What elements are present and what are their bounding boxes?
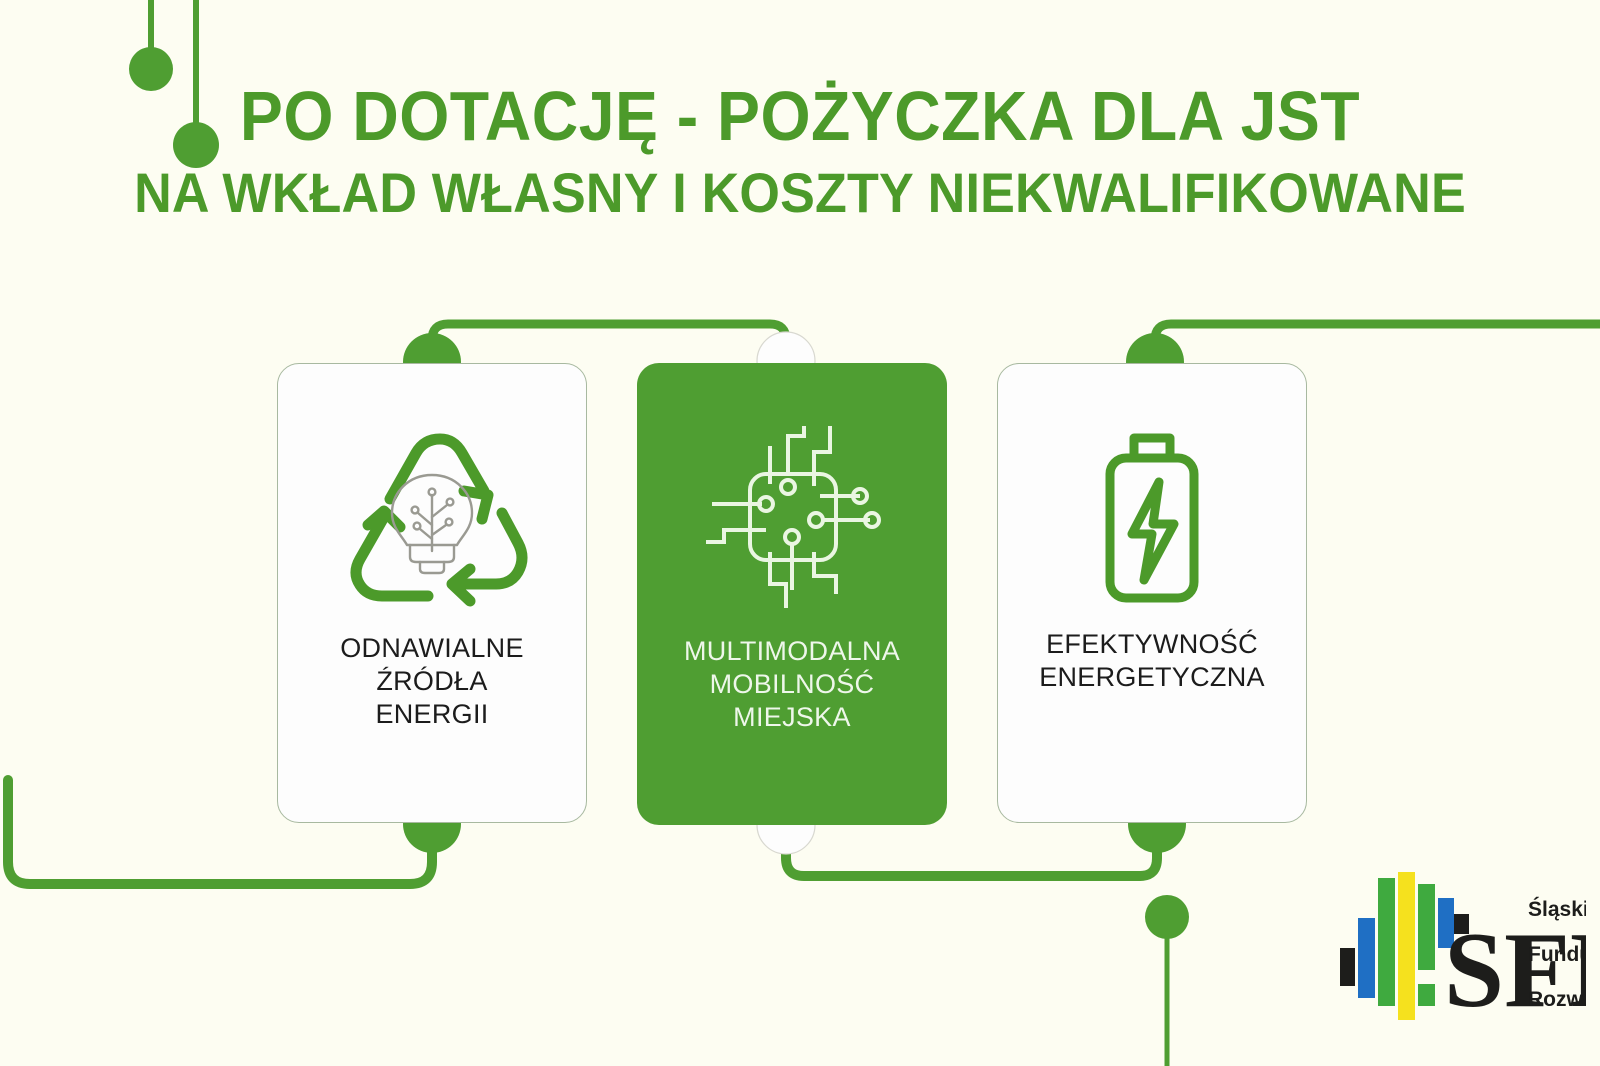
battery-bolt-icon xyxy=(1052,412,1252,612)
logo-bar-3 xyxy=(1378,878,1395,1006)
card-urban-mobility[interactable]: MULTIMODALNA MOBILNOŚĆ MIEJSKA xyxy=(637,363,947,825)
card-label-urban-mobility: MULTIMODALNA MOBILNOŚĆ MIEJSKA xyxy=(684,635,900,734)
card-label-energy-efficiency: EFEKTYWNOŚĆ ENERGETYCZNA xyxy=(1039,628,1265,694)
infographic-canvas: PO DOTACJĘ - POŻYCZKA DLA JST NA WKŁAD W… xyxy=(0,0,1600,1066)
logo-bar-6 xyxy=(1418,984,1435,1006)
card-energy-efficiency[interactable]: EFEKTYWNOŚĆ ENERGETYCZNA xyxy=(997,363,1307,823)
sfr-logo[interactable]: SFR Śląski Fundusz Rozwoju xyxy=(1336,856,1586,1026)
connector-card2-to-card3-bottom xyxy=(786,828,1157,876)
logo-tagline-line3: Rozwoju xyxy=(1528,988,1586,1011)
circuit-chip-icon xyxy=(692,419,892,619)
title-line-secondary: NA WKŁAD WŁASNY I KOSZTY NIEKWALIFIKOWAN… xyxy=(56,154,1544,226)
logo-bar-4 xyxy=(1398,872,1415,1020)
logo-tagline-line1: Śląski xyxy=(1528,897,1586,921)
recycle-lightbulb-icon xyxy=(332,416,532,616)
logo-bar-2 xyxy=(1358,918,1375,998)
card-label-renewable-energy: ODNAWIALNE ŹRÓDŁA ENERGII xyxy=(340,632,524,731)
logo-bar-5 xyxy=(1418,884,1435,970)
title-line-primary: PO DOTACJĘ - POŻYCZKA DLA JST xyxy=(64,78,1536,154)
logo-bar-1 xyxy=(1340,948,1355,986)
decor-node-bottomright xyxy=(1145,895,1189,939)
page-title: PO DOTACJĘ - POŻYCZKA DLA JST NA WKŁAD W… xyxy=(0,78,1600,226)
connector-card3-top-right xyxy=(1155,324,1600,362)
card-renewable-energy[interactable]: ODNAWIALNE ŹRÓDŁA ENERGII xyxy=(277,363,587,823)
logo-tagline-line2: Fundusz xyxy=(1528,943,1586,966)
connector-card1-to-card2-top xyxy=(432,324,786,362)
